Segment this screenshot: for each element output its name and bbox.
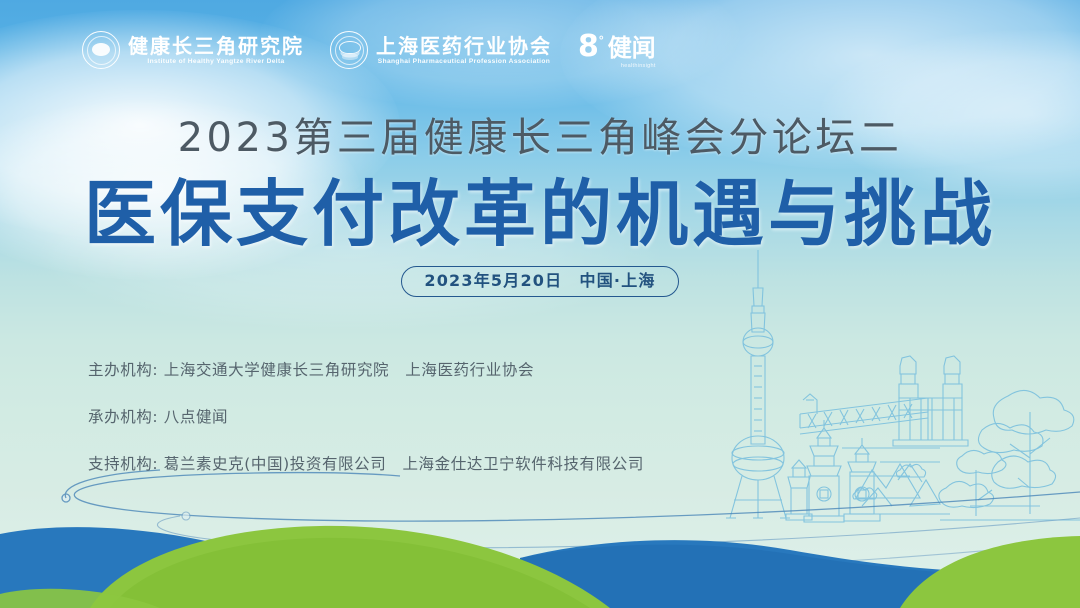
logo-mark-number: 8 [578,32,599,62]
logo-institute-of-healthy-yangtze-river-delta: 健康长三角研究院 Institute of Healthy Yangtze Ri… [82,28,304,72]
logo-english-name: Shanghai Pharmaceutical Profession Assoc… [374,57,554,66]
sponsor-logo-bar: 健康长三角研究院 Institute of Healthy Yangtze Ri… [82,28,656,72]
logo-chinese-name: 上海医药行业协会 [376,35,552,57]
credit-supporter: 支持机构: 葛兰素史克(中国)投资有限公司 上海金仕达卫宁软件科技有限公司 [88,456,644,472]
circular-seal-icon [82,31,120,69]
date-location-wrap: 2023年5月20日 中国·上海 [0,266,1080,297]
rolling-hills-decoration [0,498,1080,608]
logo-chinese-name: 健康长三角研究院 [128,35,304,57]
organizer-credits: 主办机构: 上海交通大学健康长三角研究院 上海医药行业协会 承办机构: 八点健闻… [88,362,644,503]
page-title: 医保支付改革的机遇与挑战 [0,170,1080,258]
circular-wave-seal-icon [330,31,368,69]
logo-eight-degree-health-insight: 8 ° 健闻 healthinsight [578,28,656,72]
event-subtitle: 2023第三届健康长三角峰会分论坛二 [0,114,1080,162]
conference-poster: 健康长三角研究院 Institute of Healthy Yangtze Ri… [0,0,1080,608]
logo-shanghai-pharmaceutical-profession-association: 上海医药行业协会 Shanghai Pharmaceutical Profess… [330,28,552,72]
credit-organizer: 主办机构: 上海交通大学健康长三角研究院 上海医药行业协会 [88,362,644,378]
logo-english-name: Institute of Healthy Yangtze River Delta [126,57,306,66]
date-location-badge: 2023年5月20日 中国·上海 [401,266,678,297]
logo-chinese-name: 健闻 [608,35,656,61]
credit-host: 承办机构: 八点健闻 [88,409,644,425]
logo-english-name: healthinsight [578,63,656,69]
logo-mark-degree: ° [599,34,604,46]
